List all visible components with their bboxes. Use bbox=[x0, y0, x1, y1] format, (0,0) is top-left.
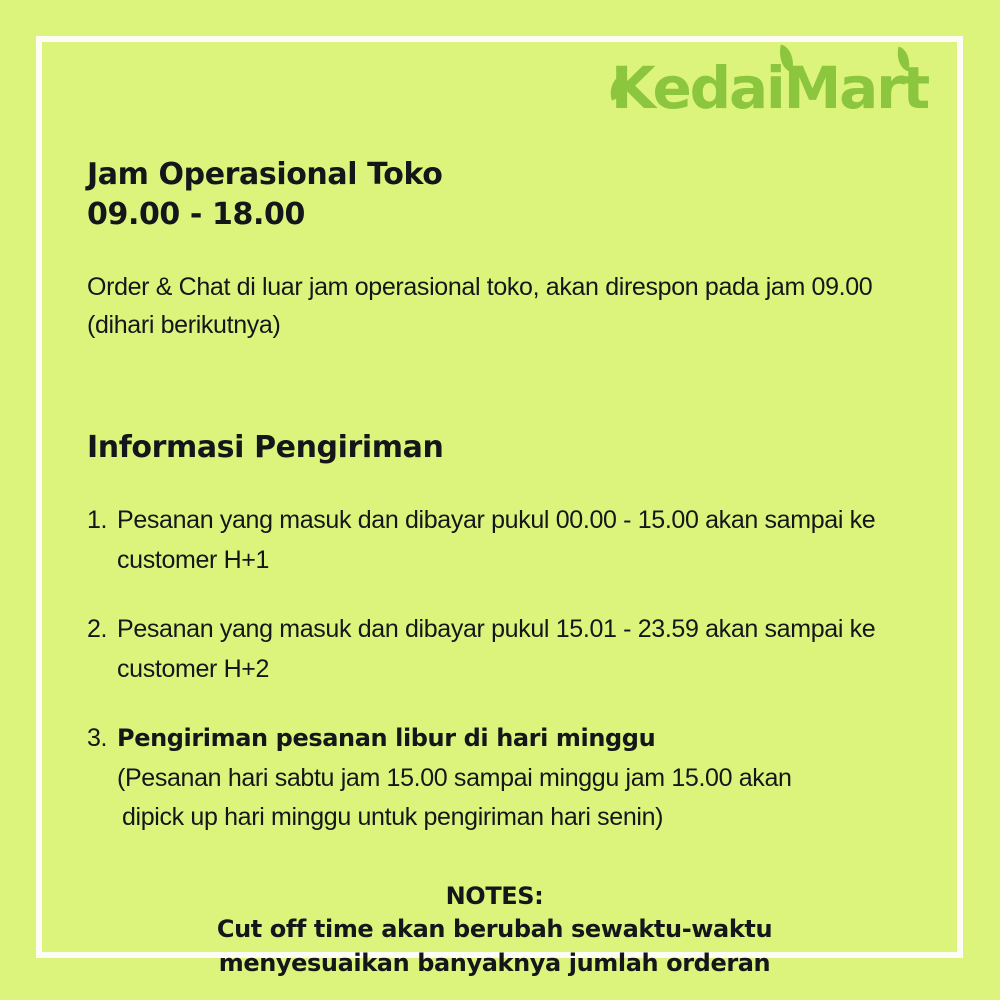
list-item: 1. Pesanan yang masuk dan dibayar pukul … bbox=[87, 501, 932, 580]
notes-line-2: menyesuaikan banyaknya jumlah orderan bbox=[87, 947, 902, 981]
list-item-text: Pengiriman pesanan libur di hari minggu … bbox=[117, 719, 932, 838]
list-item-detail-line-2: dipick up hari minggu untuk pengiriman h… bbox=[117, 798, 932, 838]
list-item: 3. Pengiriman pesanan libur di hari ming… bbox=[87, 719, 932, 838]
list-item-marker: 1. bbox=[87, 501, 117, 580]
list-item-text: Pesanan yang masuk dan dibayar pukul 15.… bbox=[117, 610, 932, 689]
list-item-marker: 3. bbox=[87, 719, 117, 838]
list-item-detail-line-1: (Pesanan hari sabtu jam 15.00 sampai min… bbox=[117, 759, 932, 799]
poster-content: Jam Operasional Toko 09.00 - 18.00 Order… bbox=[87, 155, 932, 980]
list-item: 2. Pesanan yang masuk dan dibayar pukul … bbox=[87, 610, 932, 689]
notes-block: NOTES: Cut off time akan berubah sewaktu… bbox=[87, 880, 932, 981]
shipping-info-list: 1. Pesanan yang masuk dan dibayar pukul … bbox=[87, 501, 932, 838]
after-hours-note: Order & Chat di luar jam operasional tok… bbox=[87, 268, 932, 344]
shipping-info-title: Informasi Pengiriman bbox=[87, 430, 932, 465]
brand-logo: KedaiMart bbox=[611, 52, 928, 124]
brand-wordmark: KedaiMart bbox=[611, 59, 928, 117]
list-item-marker: 2. bbox=[87, 610, 117, 689]
list-item-text: Pesanan yang masuk dan dibayar pukul 00.… bbox=[117, 501, 932, 580]
notes-line-1: Cut off time akan berubah sewaktu-waktu bbox=[87, 913, 902, 947]
operating-hours-title: Jam Operasional Toko bbox=[87, 155, 932, 195]
operating-hours-value: 09.00 - 18.00 bbox=[87, 195, 932, 235]
notes-heading: NOTES: bbox=[87, 880, 902, 914]
promo-poster: KedaiMart Jam Operasional Toko 09.00 - 1… bbox=[0, 0, 1000, 1000]
list-item-bold-line: Pengiriman pesanan libur di hari minggu bbox=[117, 724, 655, 752]
